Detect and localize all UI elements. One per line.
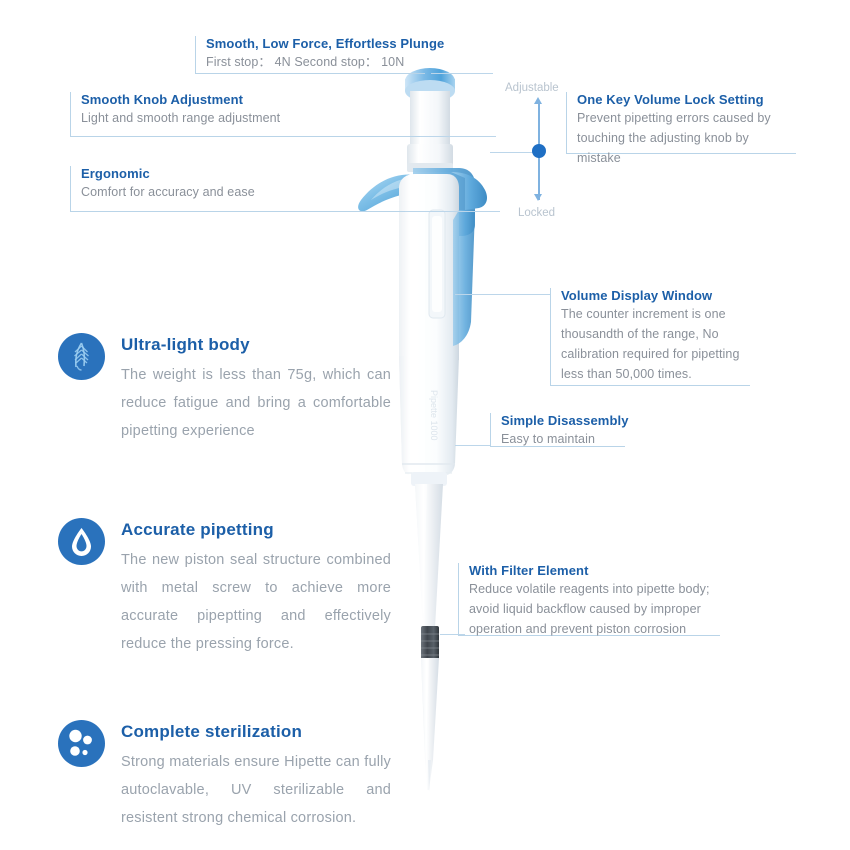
callout-knob-title: Smooth Knob Adjustment [81, 92, 420, 108]
feature-body: The new piston seal structure combined w… [121, 546, 391, 658]
volume-lock-indicator: Adjustable Locked [505, 82, 575, 224]
callout-volume-lock: One Key Volume Lock Setting Prevent pipe… [566, 92, 796, 154]
callout-plunge-title: Smooth, Low Force, Effortless Plunge [206, 36, 425, 52]
callout-disassembly: Simple Disassembly Easy to maintain [490, 413, 625, 447]
callout-volume-display-line4: less than 50,000 times. [561, 364, 750, 384]
callout-ergonomic-title: Ergonomic [81, 166, 405, 182]
feature-body: Strong materials ensure Hipette can full… [121, 748, 391, 832]
callout-disassembly-body: Easy to maintain [501, 429, 625, 449]
callout-filter-line2: avoid liquid backflow caused by improper [469, 599, 720, 619]
callout-plunge: Smooth, Low Force, Effortless Plunge Fir… [195, 36, 425, 74]
callout-plunge-body: First stop： 4N Second stop： 10N [206, 52, 425, 72]
callout-filter-title: With Filter Element [469, 563, 720, 579]
feature-ultra-light-body: Ultra-light body The weight is less than… [58, 333, 391, 445]
connector-plunge [431, 73, 493, 74]
connector-disassembly [455, 445, 490, 446]
feature-title: Accurate pipetting [121, 519, 391, 541]
body-blue-stripe [453, 210, 475, 346]
connector-ergonomic [404, 211, 500, 212]
infographic-canvas: Pipette 1000 Smooth, L [0, 0, 850, 850]
lock-indicator-top-label: Adjustable [505, 82, 559, 94]
feature-accurate-pipetting: Accurate pipetting The new piston seal s… [58, 518, 391, 658]
callout-volume-display-line3: calibration required for pipetting [561, 344, 750, 364]
feature-complete-sterilization: Complete sterilization Strong materials … [58, 720, 391, 832]
callout-knob-body: Light and smooth range adjustment [81, 108, 420, 128]
feature-body: The weight is less than 75g, which can r… [121, 361, 391, 445]
callout-volume-display: Volume Display Window The counter increm… [550, 288, 750, 386]
callout-filter-line3: operation and prevent piston corrosion [469, 619, 720, 639]
callout-knob: Smooth Knob Adjustment Light and smooth … [70, 92, 420, 137]
callout-volume-lock-title: One Key Volume Lock Setting [577, 92, 796, 108]
lock-indicator-knob [532, 144, 546, 158]
lock-indicator-bottom-label: Locked [518, 207, 555, 219]
feather-icon [58, 333, 105, 380]
callout-volume-lock-line1: Prevent pipetting errors caused by [577, 108, 796, 128]
callout-volume-display-line2: thousandth of the range, No [561, 324, 750, 344]
callout-volume-lock-line2: touching the adjusting knob by mistake [577, 128, 796, 168]
callout-volume-display-line1: The counter increment is one [561, 304, 750, 324]
callout-volume-display-title: Volume Display Window [561, 288, 750, 304]
callout-filter-line1: Reduce volatile reagents into pipette bo… [469, 579, 720, 599]
feature-title: Complete sterilization [121, 721, 391, 743]
callout-ergonomic-body: Comfort for accuracy and ease [81, 182, 405, 202]
water-drop-icon [58, 518, 105, 565]
bubbles-icon [58, 720, 105, 767]
arrow-down-icon [534, 194, 542, 201]
connector-knob [418, 136, 496, 137]
arrow-up-icon [534, 97, 542, 104]
callout-filter: With Filter Element Reduce volatile reag… [458, 563, 720, 636]
feature-title: Ultra-light body [121, 334, 391, 356]
callout-disassembly-title: Simple Disassembly [501, 413, 625, 429]
ejector-collar [411, 472, 447, 486]
connector-volume-display [455, 294, 550, 295]
body-brand-label: Pipette 1000 [429, 390, 439, 441]
callout-ergonomic: Ergonomic Comfort for accuracy and ease [70, 166, 405, 212]
